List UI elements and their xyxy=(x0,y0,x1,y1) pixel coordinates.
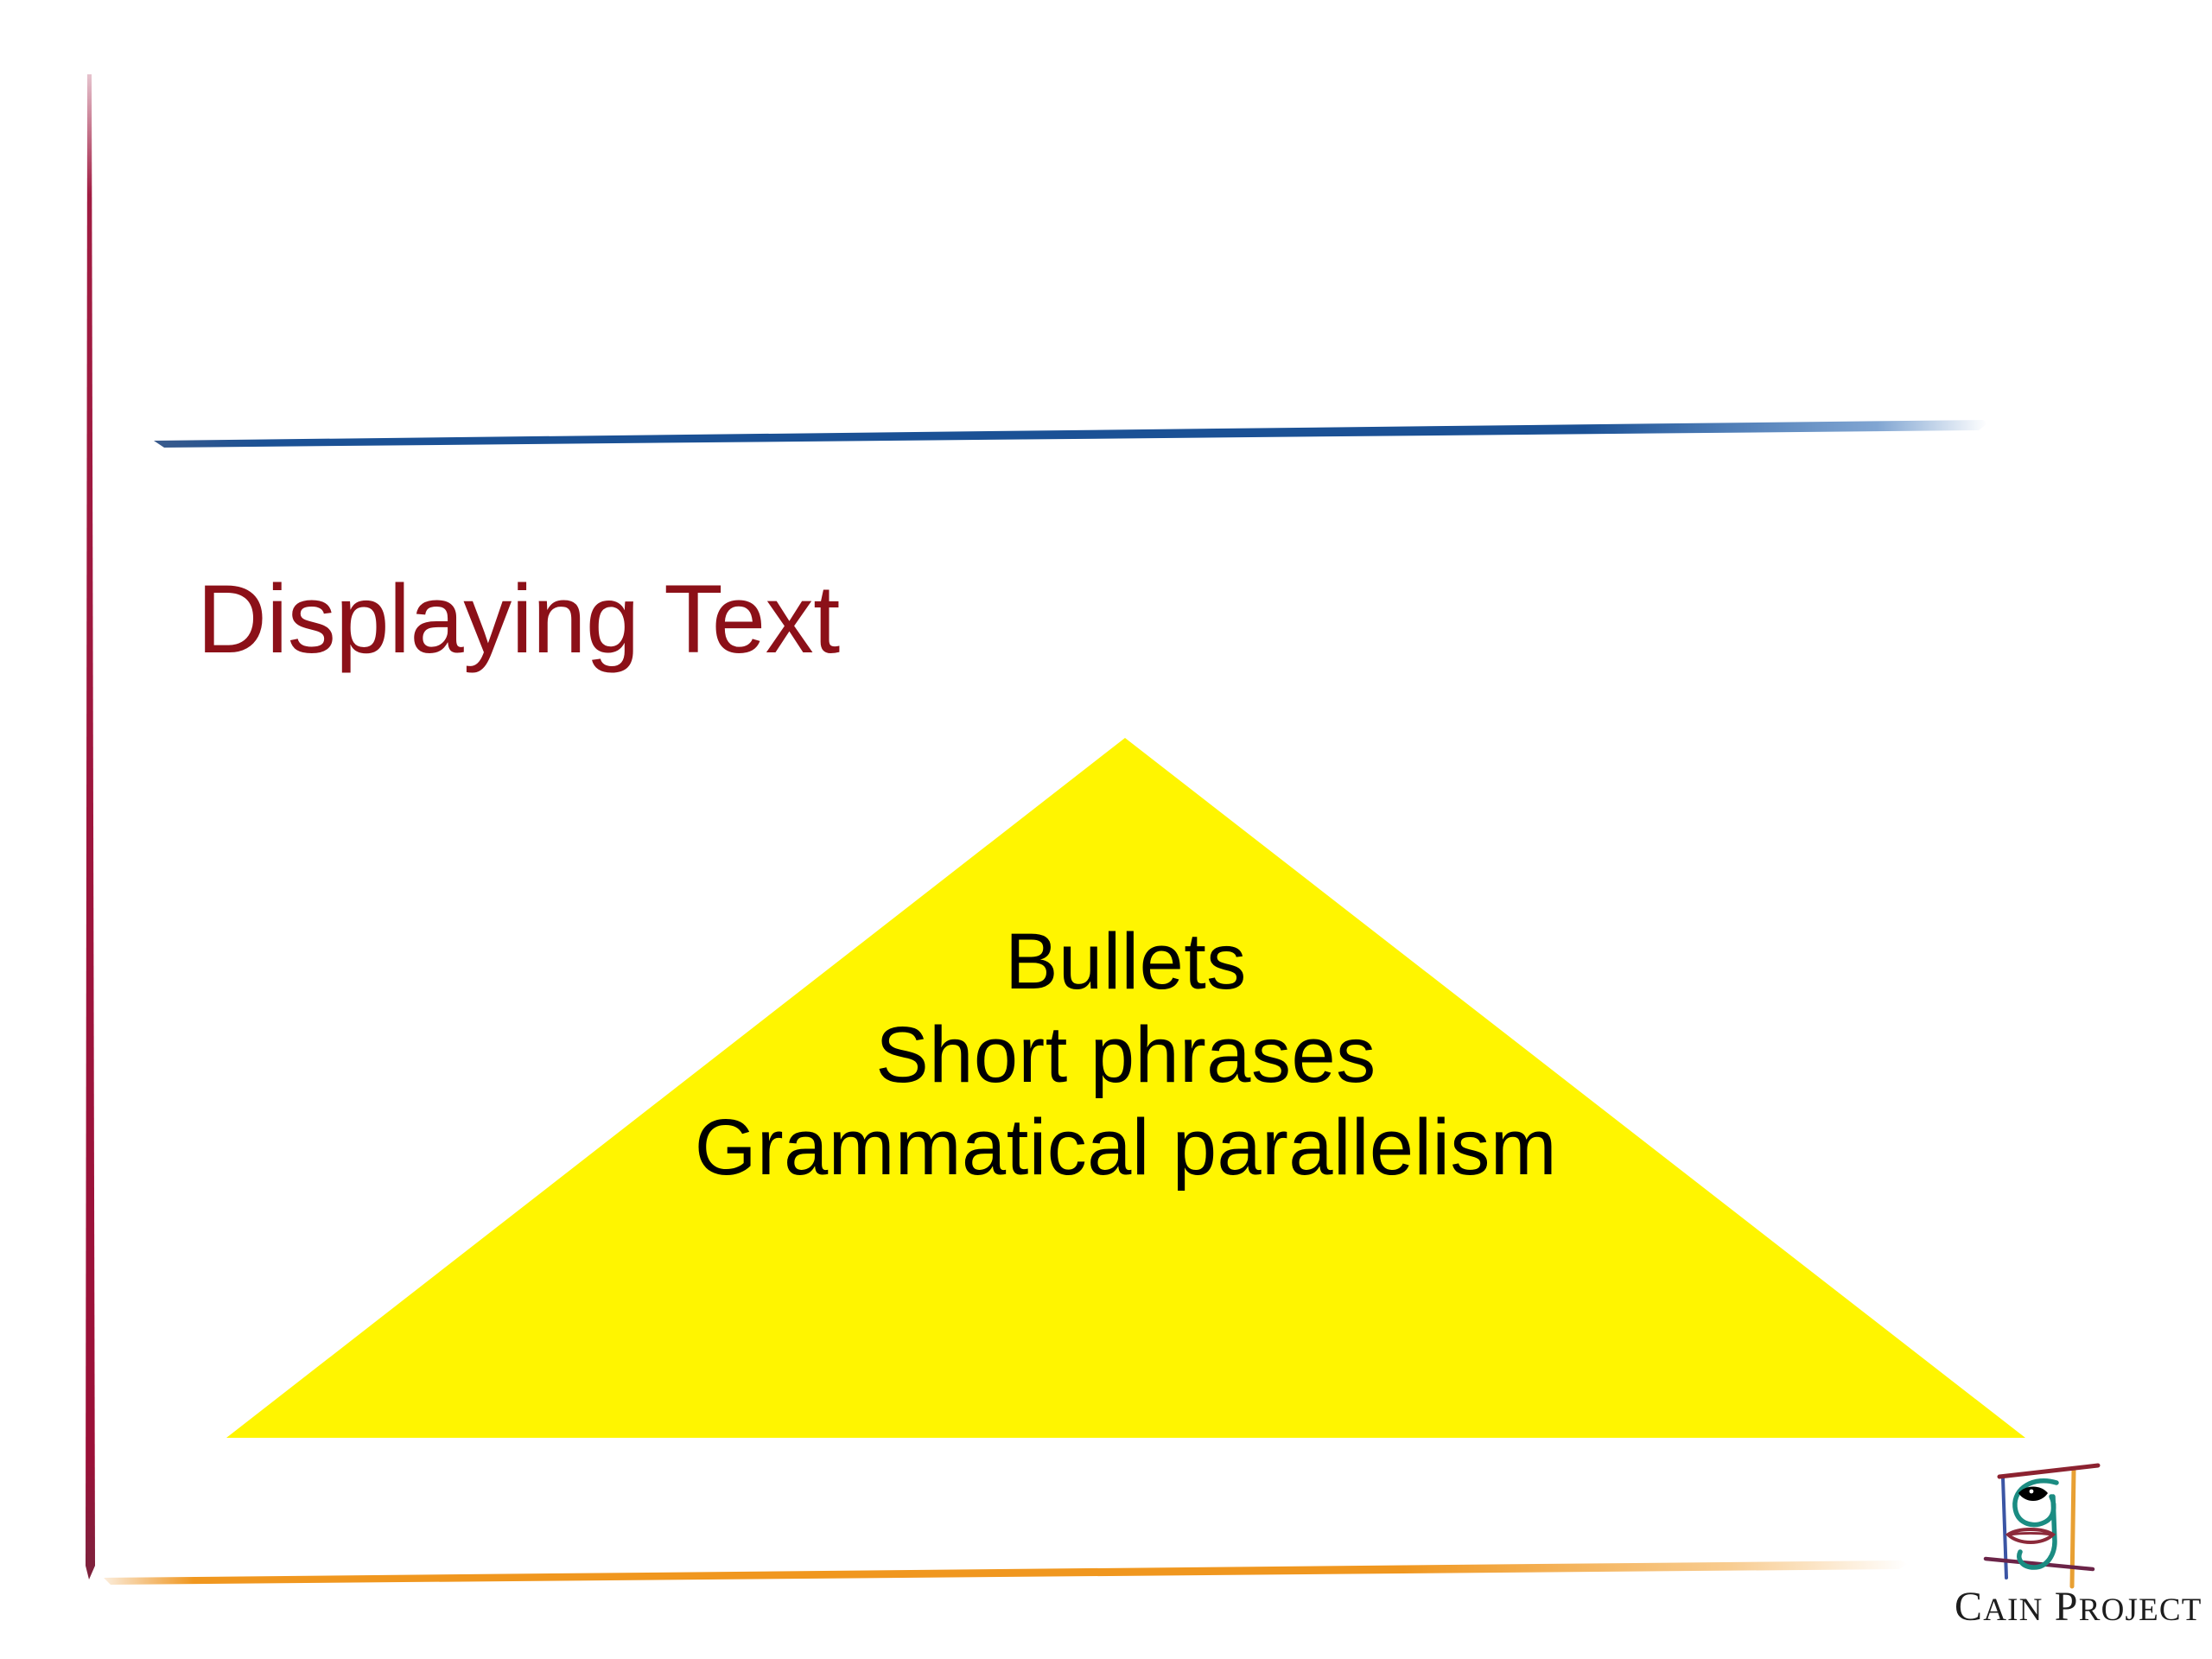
triangle-text-line-1: Bullets xyxy=(226,916,2025,1009)
triangle-text-line-2: Short phrases xyxy=(226,1009,2025,1103)
wordmark-ain: AIN xyxy=(1983,1592,2043,1628)
presentation-slide: Displaying Text Bullets Short phrases Gr… xyxy=(0,0,2212,1659)
yellow-triangle xyxy=(0,0,2212,1659)
cain-project-face-icon xyxy=(1980,1462,2145,1590)
triangle-text-line-3: Grammatical parallelism xyxy=(226,1102,2025,1195)
cain-project-wordmark: CAIN PROJECT xyxy=(1955,1583,2212,1630)
cain-project-logo: CAIN PROJECT xyxy=(1955,1462,2212,1659)
wordmark-c: C xyxy=(1955,1584,1983,1630)
wordmark-roject: ROJECT xyxy=(2079,1592,2202,1628)
triangle-text-block: Bullets Short phrases Grammatical parall… xyxy=(226,916,2025,1195)
wordmark-p: P xyxy=(2055,1584,2079,1630)
page-title: Displaying Text xyxy=(197,570,840,669)
